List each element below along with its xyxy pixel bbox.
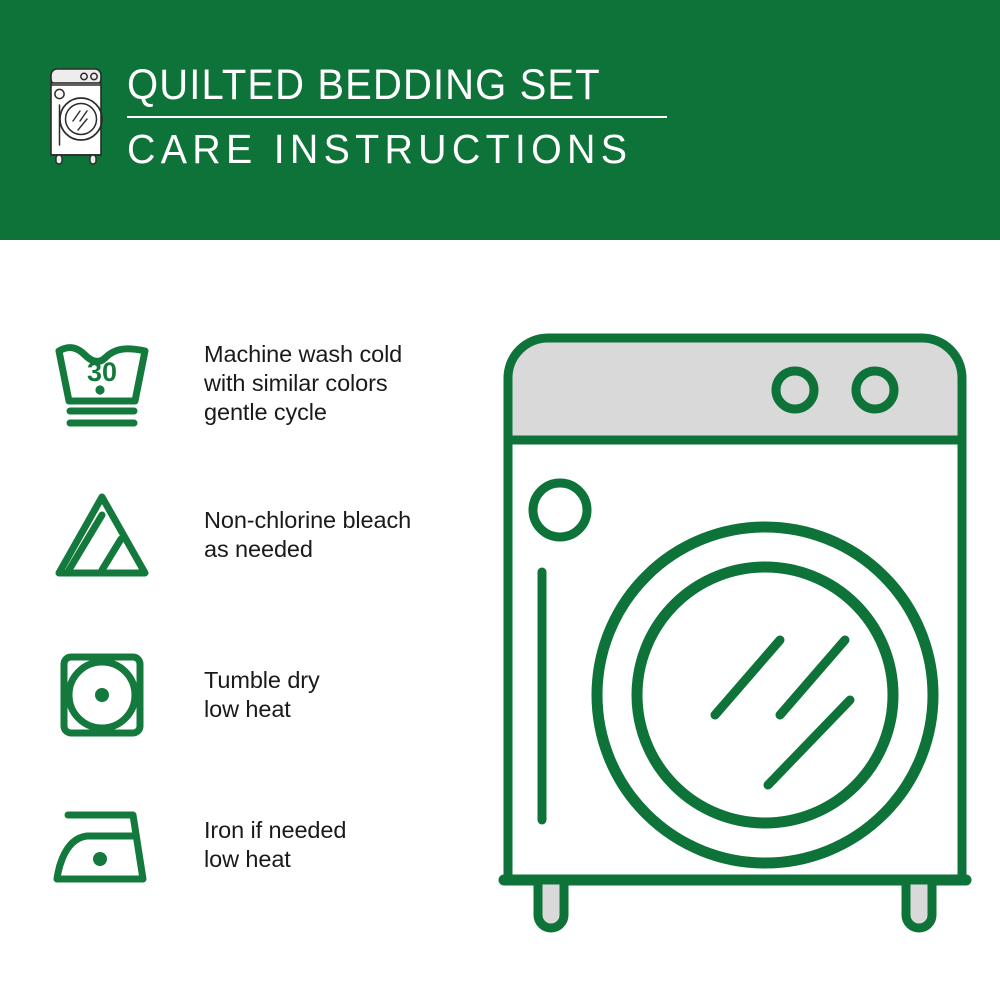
care-label-tumble-dry: Tumble dry low heat xyxy=(204,666,320,724)
wash-temperature-value: 30 xyxy=(87,357,117,387)
care-row-iron: Iron if needed low heat xyxy=(0,790,500,900)
care-row-bleach: Non-chlorine bleach as needed xyxy=(0,480,500,590)
header-band: QUILTED BEDDING SET CARE INSTRUCTIONS xyxy=(0,0,1000,240)
care-row-wash: 30 Machine wash cold with similar colors… xyxy=(0,328,500,438)
wash-tub-30-icon: 30 xyxy=(42,328,162,438)
tumble-dry-low-heat-icon xyxy=(42,640,162,750)
machine-leg-right xyxy=(906,880,932,928)
page-title: QUILTED BEDDING SET xyxy=(127,62,629,108)
page-subtitle: CARE INSTRUCTIONS xyxy=(127,127,645,171)
non-chlorine-bleach-triangle-icon xyxy=(42,480,162,590)
front-load-washing-machine-illustration xyxy=(490,320,980,950)
care-label-bleach: Non-chlorine bleach as needed xyxy=(204,506,411,564)
title-divider xyxy=(127,116,667,118)
header-title-block: QUILTED BEDDING SET CARE INSTRUCTIONS xyxy=(127,62,667,171)
care-label-wash: Machine wash cold with similar colors ge… xyxy=(204,340,402,427)
iron-low-heat-icon xyxy=(42,790,162,900)
care-label-iron: Iron if needed low heat xyxy=(204,816,346,874)
care-instruction-list: 30 Machine wash cold with similar colors… xyxy=(0,240,500,1000)
machine-leg-left xyxy=(538,880,564,928)
care-row-tumble-dry: Tumble dry low heat xyxy=(0,640,500,750)
washing-machine-icon xyxy=(45,63,109,171)
header-branding: QUILTED BEDDING SET CARE INSTRUCTIONS xyxy=(45,62,667,171)
